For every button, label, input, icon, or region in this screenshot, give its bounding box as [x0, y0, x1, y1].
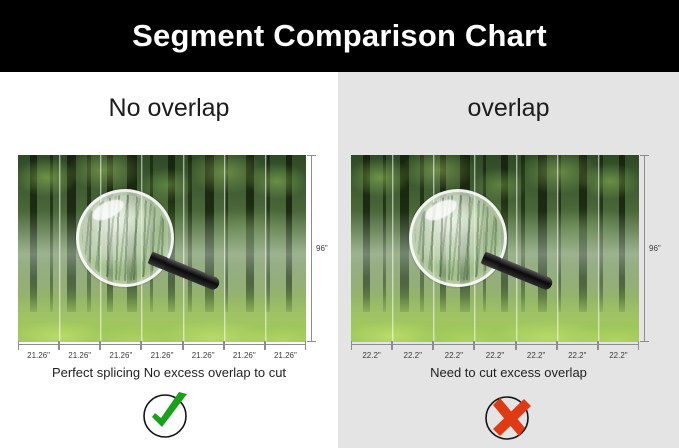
panel-seam — [557, 155, 558, 342]
width-label: 22.2" — [527, 351, 545, 360]
width-label: 22.2" — [445, 351, 463, 360]
width-label: 22.2" — [404, 351, 422, 360]
width-segment: 22.2" — [516, 344, 557, 362]
panel-overlap: overlap — [338, 72, 679, 448]
width-ruler-overlap: 22.2" 22.2" 22.2" 22.2" 22.2" 22.2" 22.2… — [351, 344, 639, 362]
width-segment: 22.2" — [598, 344, 639, 362]
caption-overlap: Need to cut excess overlap — [338, 365, 679, 380]
forest-photo-overlap — [351, 155, 639, 342]
width-label: 21.26" — [68, 351, 91, 360]
width-segment: 21.26" — [59, 344, 100, 362]
panel-heading-no-overlap: No overlap — [0, 94, 338, 123]
height-label: 96" — [316, 244, 328, 253]
panel-seam — [433, 155, 434, 342]
width-segment: 21.26" — [18, 344, 59, 362]
width-label: 21.26" — [233, 351, 256, 360]
width-label: 22.2" — [486, 351, 504, 360]
width-segment: 22.2" — [474, 344, 515, 362]
panel-seam — [392, 155, 393, 342]
panel-no-overlap: No overlap — [0, 72, 338, 448]
width-label: 22.2" — [609, 351, 627, 360]
panel-seam — [224, 155, 225, 342]
width-label: 22.2" — [568, 351, 586, 360]
width-segment: 21.26" — [183, 344, 224, 362]
comparison-chart-page: Segment Comparison Chart No overlap — [0, 0, 679, 448]
panel-container: No overlap — [0, 72, 679, 448]
panel-seam — [183, 155, 184, 342]
height-ruler-no-overlap: 96" — [310, 155, 330, 342]
width-label: 21.26" — [27, 351, 50, 360]
height-ruler-line — [311, 155, 312, 342]
panel-seam — [141, 155, 142, 342]
verdict-overlap — [338, 390, 679, 442]
title-banner: Segment Comparison Chart — [0, 0, 679, 72]
width-segment: 22.2" — [433, 344, 474, 362]
width-segment: 21.26" — [141, 344, 182, 362]
width-segment: 21.26" — [224, 344, 265, 362]
width-label: 21.26" — [109, 351, 132, 360]
panel-seam — [59, 155, 60, 342]
forest-photo-no-overlap — [18, 155, 306, 342]
height-ruler-line — [644, 155, 645, 342]
width-segment: 22.2" — [557, 344, 598, 362]
green-check-icon — [140, 390, 198, 442]
red-cross-icon — [480, 390, 538, 442]
panel-seam — [516, 155, 517, 342]
panel-seam — [265, 155, 266, 342]
caption-no-overlap: Perfect splicing No excess overlap to cu… — [0, 365, 338, 380]
width-label: 21.26" — [274, 351, 297, 360]
width-label: 21.26" — [151, 351, 174, 360]
width-segment: 22.2" — [392, 344, 433, 362]
panel-seam — [100, 155, 101, 342]
photo-block-overlap — [351, 155, 639, 342]
photo-block-no-overlap — [18, 155, 306, 342]
panel-seam — [474, 155, 475, 342]
width-segment: 22.2" — [351, 344, 392, 362]
width-ruler-no-overlap: 21.26" 21.26" 21.26" 21.26" 21.26" 21.26… — [18, 344, 306, 362]
panel-seams-overlap — [351, 155, 639, 342]
width-label: 21.26" — [192, 351, 215, 360]
verdict-no-overlap — [0, 390, 338, 442]
panel-heading-overlap: overlap — [338, 94, 679, 123]
page-title: Segment Comparison Chart — [132, 18, 547, 54]
panel-seams-no-overlap — [18, 155, 306, 342]
height-ruler-overlap: 96" — [643, 155, 663, 342]
width-label: 22.2" — [362, 351, 380, 360]
panel-seam — [598, 155, 599, 342]
width-segment: 21.26" — [100, 344, 141, 362]
height-label: 96" — [649, 244, 661, 253]
width-segment: 21.26" — [265, 344, 306, 362]
